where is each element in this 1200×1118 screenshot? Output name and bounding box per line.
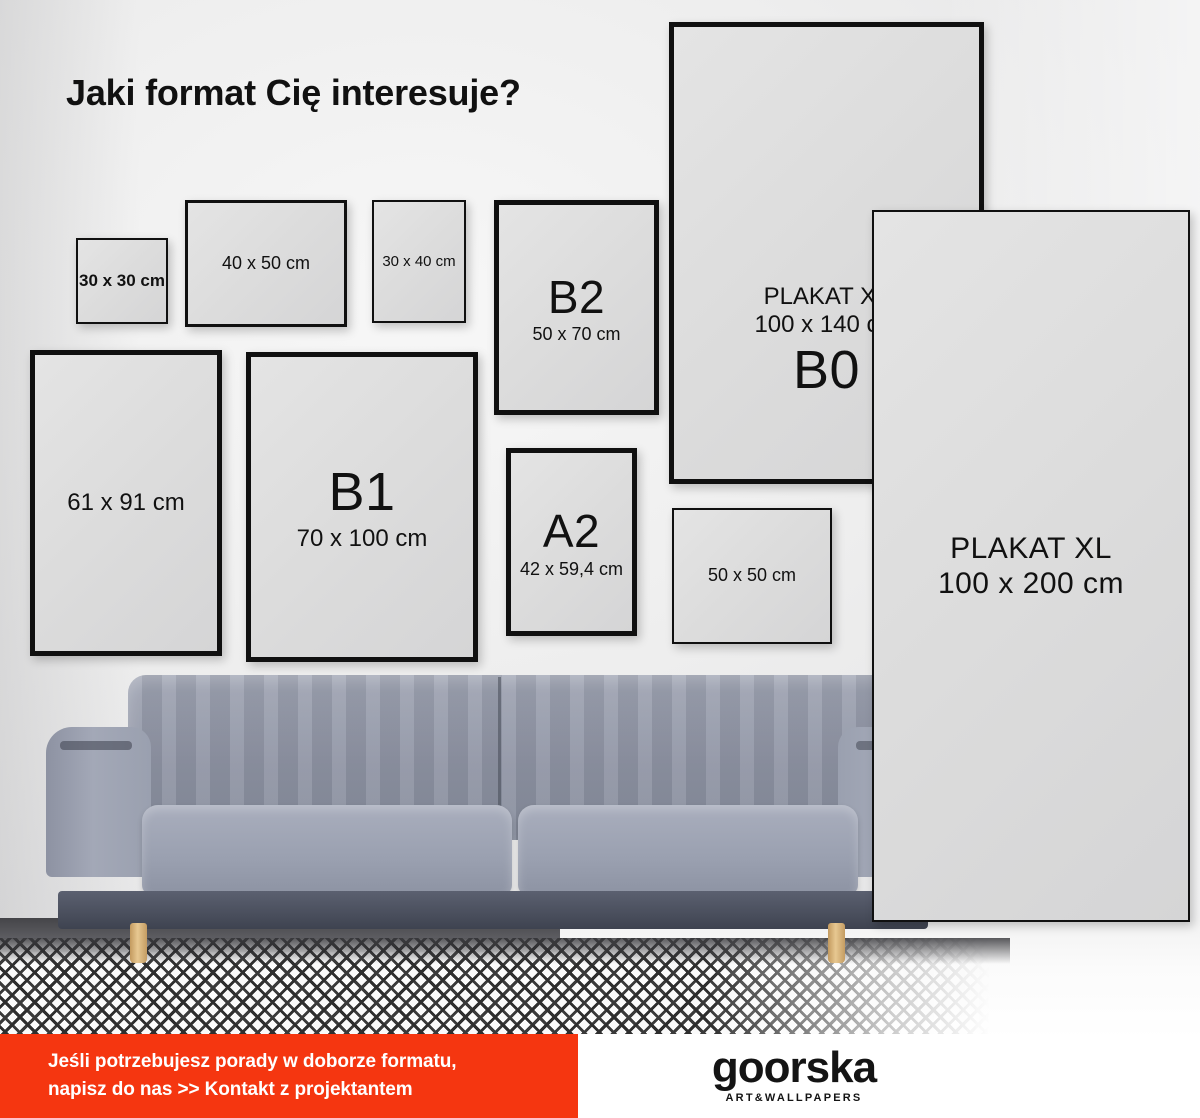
- frame-b2-code: B2: [548, 270, 605, 324]
- sofa-cushion-left: [142, 805, 512, 895]
- page-title: Jaki format Cię interesuje?: [66, 72, 521, 114]
- frame-xl200-title: PLAKAT XL: [950, 531, 1112, 566]
- room-scene: Jaki format Cię interesuje? 30 x 30 cm 4…: [0, 0, 1200, 1118]
- brand-logo[interactable]: goorska ART&WALLPAPERS: [694, 1046, 894, 1104]
- frame-b0-title: PLAKAT XL: [764, 283, 890, 311]
- frame-b0-code: B0: [793, 339, 860, 403]
- frame-50x50[interactable]: 50 x 50 cm: [672, 508, 832, 644]
- sofa: [38, 665, 938, 955]
- frame-40x50-label: 40 x 50 cm: [222, 253, 310, 274]
- frame-xl200-size: 100 x 200 cm: [938, 566, 1124, 601]
- frame-61x91[interactable]: 61 x 91 cm: [30, 350, 222, 656]
- sofa-base: [58, 891, 928, 929]
- frame-30x30-label: 30 x 30 cm: [79, 271, 165, 291]
- frame-a2-size: 42 x 59,4 cm: [520, 559, 623, 580]
- frame-a2-code: A2: [543, 504, 600, 558]
- frame-a2[interactable]: A2 42 x 59,4 cm: [506, 448, 637, 636]
- frame-30x40-label: 30 x 40 cm: [382, 253, 455, 271]
- contact-banner-line1: Jeśli potrzebujesz porady w doborze form…: [48, 1048, 578, 1077]
- frame-b1[interactable]: B1 70 x 100 cm: [246, 352, 478, 662]
- frame-30x30[interactable]: 30 x 30 cm: [76, 238, 168, 324]
- frame-b2[interactable]: B2 50 x 70 cm: [494, 200, 659, 415]
- contact-banner-line2: napisz do nas >> Kontakt z projektantem: [48, 1076, 578, 1105]
- frame-b1-size: 70 x 100 cm: [297, 525, 428, 553]
- brand-logo-tagline: ART&WALLPAPERS: [726, 1092, 863, 1104]
- frame-50x50-label: 50 x 50 cm: [708, 565, 796, 586]
- frame-61x91-label: 61 x 91 cm: [67, 489, 184, 517]
- sofa-armrest-left: [46, 727, 151, 877]
- sofa-leg-left: [130, 923, 147, 963]
- sofa-cushion-right: [518, 805, 858, 895]
- brand-logo-name: goorska: [712, 1046, 876, 1090]
- sofa-leg-right: [828, 923, 845, 963]
- contact-banner[interactable]: Jeśli potrzebujesz porady w doborze form…: [0, 1034, 578, 1118]
- frame-40x50[interactable]: 40 x 50 cm: [185, 200, 347, 327]
- frame-b1-code: B1: [328, 461, 395, 525]
- bottom-bar: Jeśli potrzebujesz porady w doborze form…: [0, 1034, 1200, 1118]
- frame-30x40[interactable]: 30 x 40 cm: [372, 200, 466, 323]
- frame-plakat-xl-200[interactable]: PLAKAT XL 100 x 200 cm: [872, 210, 1190, 922]
- frame-b2-size: 50 x 70 cm: [532, 324, 620, 345]
